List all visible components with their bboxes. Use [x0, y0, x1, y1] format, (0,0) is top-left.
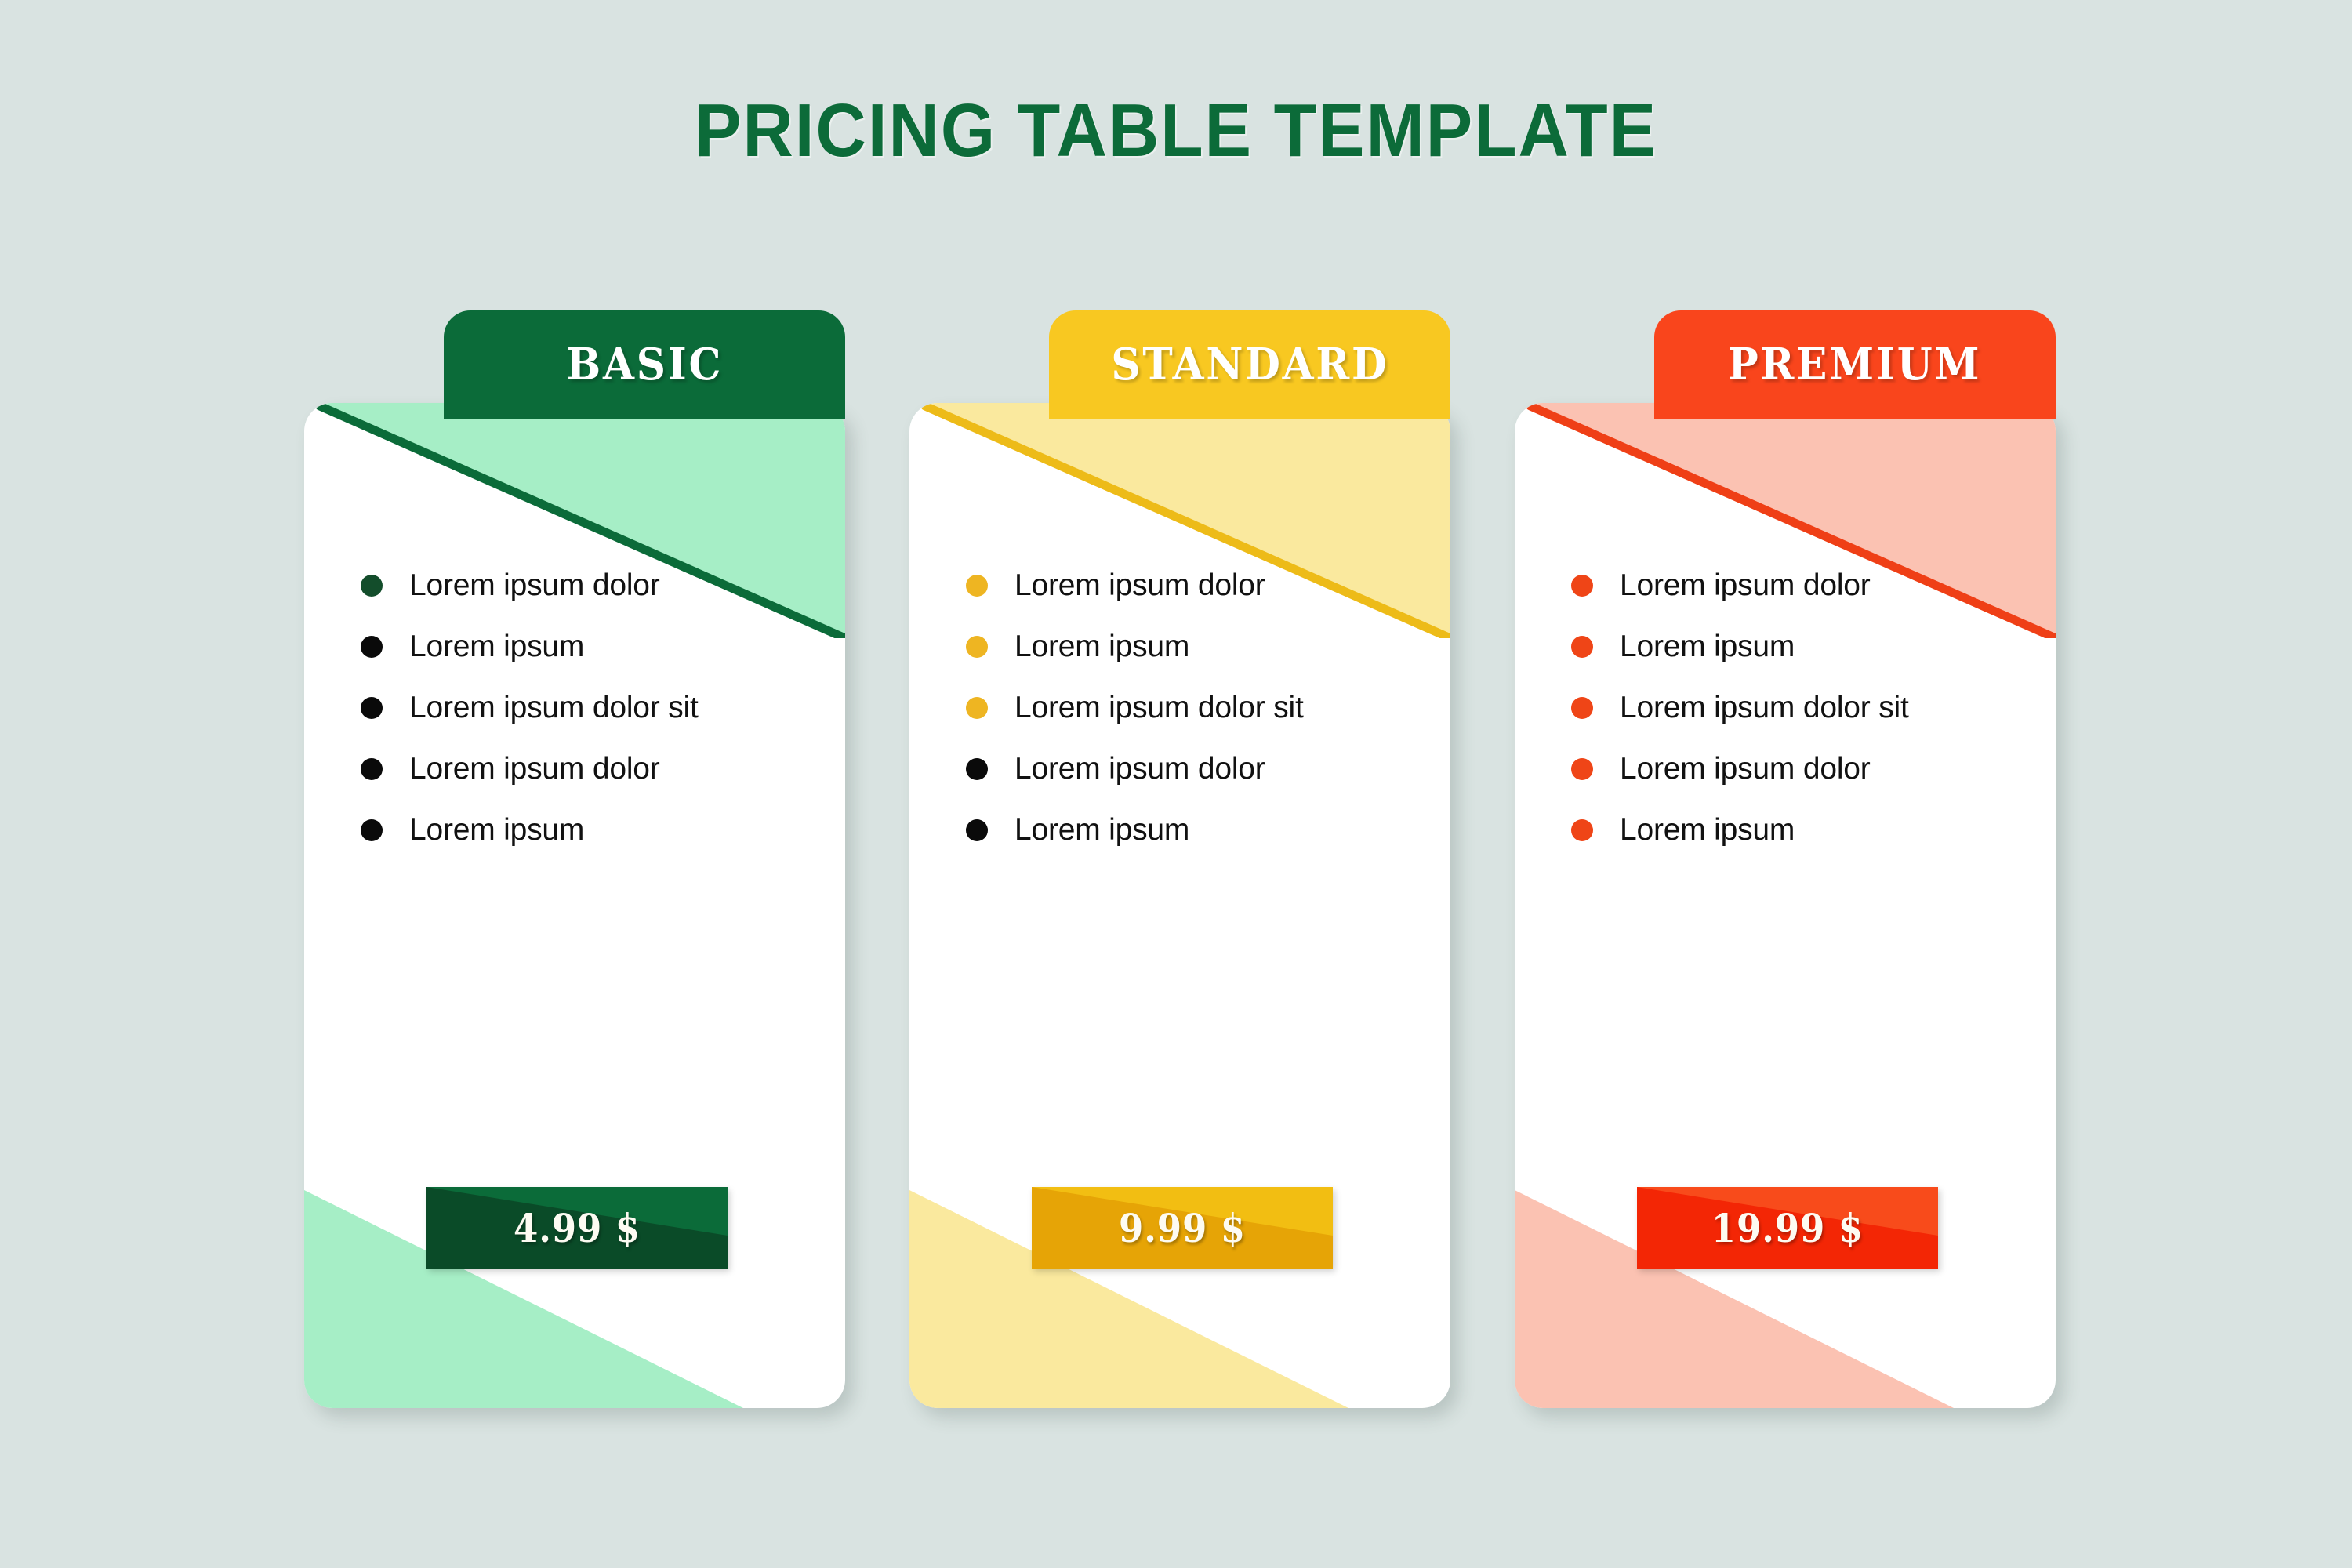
- bullet-dot-icon: [1571, 636, 1593, 658]
- feature-label: Lorem ipsum dolor: [1620, 752, 1871, 786]
- bullet-dot-icon: [1571, 819, 1593, 841]
- feature-item[interactable]: Lorem ipsum dolor sit: [304, 677, 845, 739]
- feature-list: Lorem ipsum dolorLorem ipsumLorem ipsum …: [909, 555, 1450, 861]
- plan-card-body: Lorem ipsum dolorLorem ipsumLorem ipsum …: [304, 403, 845, 1408]
- price-label: 9.99 $: [1119, 1205, 1246, 1251]
- feature-item[interactable]: Lorem ipsum: [909, 800, 1450, 861]
- bullet-dot-icon: [361, 819, 383, 841]
- bullet-dot-icon: [361, 636, 383, 658]
- feature-label: Lorem ipsum dolor sit: [409, 691, 699, 725]
- feature-list: Lorem ipsum dolorLorem ipsumLorem ipsum …: [1515, 555, 2056, 861]
- bullet-dot-icon: [1571, 697, 1593, 719]
- bullet-dot-icon: [966, 636, 988, 658]
- bullet-dot-icon: [361, 697, 383, 719]
- feature-item[interactable]: Lorem ipsum dolor: [909, 555, 1450, 616]
- bullet-dot-icon: [966, 697, 988, 719]
- feature-list: Lorem ipsum dolorLorem ipsumLorem ipsum …: [304, 555, 845, 861]
- feature-label: Lorem ipsum dolor: [409, 568, 660, 603]
- feature-label: Lorem ipsum: [1014, 630, 1189, 664]
- price-label: 4.99 $: [514, 1205, 641, 1251]
- feature-item[interactable]: Lorem ipsum dolor: [1515, 739, 2056, 800]
- feature-item[interactable]: Lorem ipsum: [304, 800, 845, 861]
- plan-card-body: Lorem ipsum dolorLorem ipsumLorem ipsum …: [909, 403, 1450, 1408]
- feature-item[interactable]: Lorem ipsum dolor sit: [909, 677, 1450, 739]
- bullet-dot-icon: [1571, 758, 1593, 780]
- pricing-card-premium[interactable]: PREMIUMLorem ipsum dolorLorem ipsumLorem…: [1515, 310, 2056, 1408]
- pricing-card-grid: BASICLorem ipsum dolorLorem ipsumLorem i…: [0, 0, 2352, 1568]
- feature-label: Lorem ipsum dolor: [1014, 752, 1265, 786]
- price-label: 19.99 $: [1711, 1205, 1864, 1251]
- bullet-dot-icon: [966, 758, 988, 780]
- feature-label: Lorem ipsum dolor: [1620, 568, 1871, 603]
- feature-label: Lorem ipsum: [409, 630, 584, 664]
- feature-item[interactable]: Lorem ipsum dolor sit: [1515, 677, 2056, 739]
- feature-label: Lorem ipsum: [409, 813, 584, 848]
- feature-item[interactable]: Lorem ipsum dolor: [304, 555, 845, 616]
- bullet-dot-icon: [361, 575, 383, 597]
- feature-label: Lorem ipsum dolor: [1014, 568, 1265, 603]
- plan-header-premium: PREMIUM: [1654, 310, 2056, 419]
- feature-item[interactable]: Lorem ipsum: [909, 616, 1450, 677]
- feature-item[interactable]: Lorem ipsum dolor: [1515, 555, 2056, 616]
- bullet-dot-icon: [1571, 575, 1593, 597]
- bullet-dot-icon: [966, 575, 988, 597]
- feature-item[interactable]: Lorem ipsum: [1515, 800, 2056, 861]
- price-badge[interactable]: 19.99 $: [1637, 1187, 1938, 1269]
- feature-item[interactable]: Lorem ipsum dolor: [909, 739, 1450, 800]
- plan-name-label: BASIC: [566, 339, 723, 390]
- feature-label: Lorem ipsum: [1620, 813, 1795, 848]
- feature-label: Lorem ipsum dolor sit: [1014, 691, 1304, 725]
- feature-label: Lorem ipsum: [1620, 630, 1795, 664]
- plan-name-label: PREMIUM: [1728, 339, 1981, 390]
- bullet-dot-icon: [361, 758, 383, 780]
- feature-label: Lorem ipsum dolor: [409, 752, 660, 786]
- bullet-dot-icon: [966, 819, 988, 841]
- feature-label: Lorem ipsum dolor sit: [1620, 691, 1909, 725]
- plan-card-body: Lorem ipsum dolorLorem ipsumLorem ipsum …: [1515, 403, 2056, 1408]
- plan-name-label: STANDARD: [1111, 339, 1388, 390]
- feature-item[interactable]: Lorem ipsum dolor: [304, 739, 845, 800]
- feature-item[interactable]: Lorem ipsum: [1515, 616, 2056, 677]
- plan-header-standard: STANDARD: [1049, 310, 1450, 419]
- price-badge[interactable]: 4.99 $: [426, 1187, 728, 1269]
- pricing-card-standard[interactable]: STANDARDLorem ipsum dolorLorem ipsumLore…: [909, 310, 1450, 1408]
- price-badge[interactable]: 9.99 $: [1032, 1187, 1333, 1269]
- feature-label: Lorem ipsum: [1014, 813, 1189, 848]
- feature-item[interactable]: Lorem ipsum: [304, 616, 845, 677]
- pricing-card-basic[interactable]: BASICLorem ipsum dolorLorem ipsumLorem i…: [304, 310, 845, 1408]
- plan-header-basic: BASIC: [444, 310, 845, 419]
